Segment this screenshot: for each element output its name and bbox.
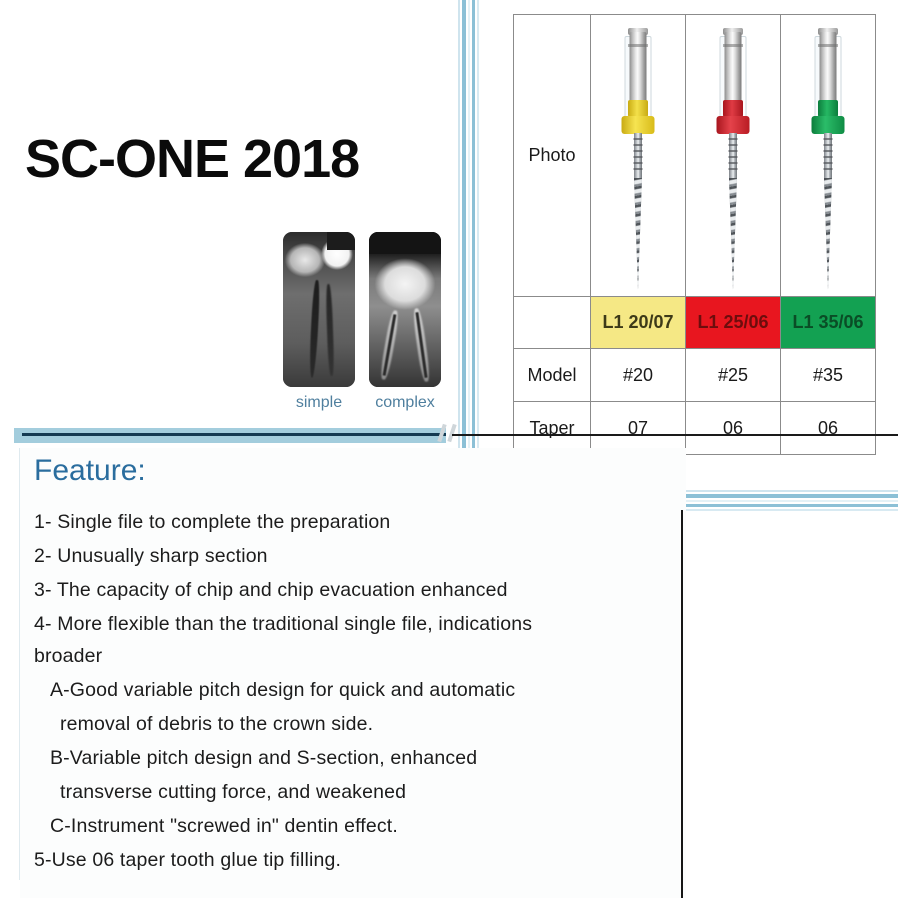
red-file-ring-big — [717, 116, 750, 134]
complex-xray: complex — [369, 232, 441, 387]
code-cell-red: L1 25/06 — [686, 297, 781, 349]
decorative-frame-left — [456, 0, 482, 514]
feature-item-1: 1- Single file to complete the preparati… — [34, 511, 390, 534]
right-vertical-rule — [681, 510, 683, 898]
feature-item-4-cont: broader — [34, 645, 102, 668]
simple-xray-caption: simple — [283, 394, 355, 412]
green-file-ring-small — [818, 100, 838, 117]
feature-item-b-cont: transverse cutting force, and weakened — [60, 781, 406, 804]
feature-item-3: 3- The capacity of chip and chip evacuat… — [34, 579, 508, 602]
feature-item-5: 5-Use 06 taper tooth glue tip filling. — [34, 849, 341, 872]
feature-heading: Feature: — [34, 454, 146, 488]
code-cell-green: L1 35/06 — [781, 297, 876, 349]
xray-gallery: simple complex — [283, 232, 443, 422]
feature-item-2: 2- Unusually sharp section — [34, 545, 268, 568]
model-cell-3: #35 — [781, 349, 876, 402]
divider-extension-line — [452, 434, 898, 436]
yellow-file-ring-big — [622, 116, 655, 134]
photo-cell-green — [781, 15, 876, 297]
row-label-photo: Photo — [514, 15, 591, 297]
simple-xray: simple — [283, 232, 355, 387]
green-file-ring-big — [812, 116, 845, 134]
photo-cell-red — [686, 15, 781, 297]
yellow-file-ring-small — [628, 100, 648, 117]
red-file — [686, 18, 780, 294]
complex-xray-image — [369, 232, 441, 387]
taper-cell-1: 07 — [591, 402, 686, 455]
table-row-code: L1 20/07 L1 25/06 L1 35/06 — [514, 297, 876, 349]
table-row-taper: Taper 07 06 06 — [514, 402, 876, 455]
feature-item-4: 4- More flexible than the traditional si… — [34, 613, 532, 636]
green-file — [781, 18, 875, 294]
taper-cell-2: 06 — [686, 402, 781, 455]
code-cell-yellow: L1 20/07 — [591, 297, 686, 349]
feature-item-b: B-Variable pitch design and S-section, e… — [50, 747, 477, 770]
row-label-code — [514, 297, 591, 349]
feature-panel: Feature: 1- Single file to complete the … — [20, 448, 686, 898]
feature-item-c: C-Instrument "screwed in" dentin effect. — [50, 815, 398, 838]
row-label-model: Model — [514, 349, 591, 402]
section-divider — [14, 428, 446, 443]
model-cell-1: #20 — [591, 349, 686, 402]
simple-xray-image — [283, 232, 355, 387]
specification-table: Photo — [513, 14, 876, 455]
feature-item-a: A-Good variable pitch design for quick a… — [50, 679, 515, 702]
table-row-photo: Photo — [514, 15, 876, 297]
yellow-file — [591, 18, 685, 294]
red-file-ring-small — [723, 100, 743, 117]
table-row-model: Model #20 #25 #35 — [514, 349, 876, 402]
page-title: SC-ONE 2018 — [25, 128, 359, 190]
feature-item-a-cont: removal of debris to the crown side. — [60, 713, 373, 736]
poster-root: SC-ONE 2018 simple complex — [0, 0, 898, 898]
photo-cell-yellow — [591, 15, 686, 297]
taper-cell-3: 06 — [781, 402, 876, 455]
model-cell-2: #25 — [686, 349, 781, 402]
complex-xray-caption: complex — [369, 394, 441, 412]
row-label-taper: Taper — [514, 402, 591, 455]
